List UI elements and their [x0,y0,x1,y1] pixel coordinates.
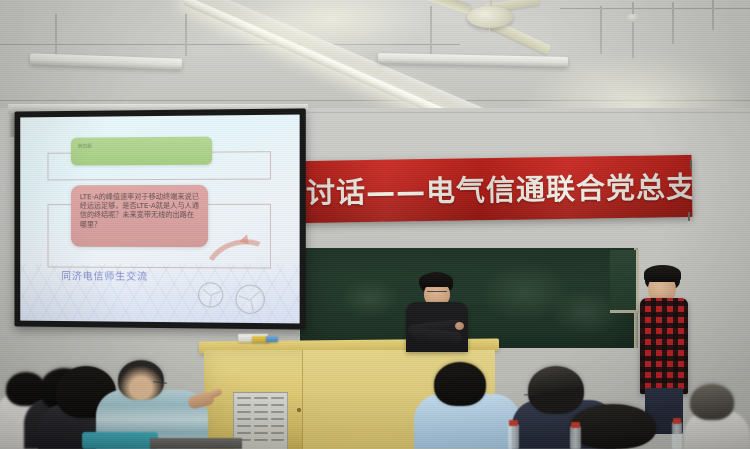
slide-bicycle-wheel [235,285,264,315]
slide-header-box: 第四题 [71,137,212,166]
ceiling-fan [467,6,513,28]
audience-striped-shirt-head [118,360,164,400]
slide-header-label: 第四题 [78,144,92,150]
audience-dark-coat-head [570,404,656,449]
banner-text: 讨话——电气信通联合党总支 [300,164,693,212]
speaker-hand [455,322,464,330]
audience-light-blue-shirt-head [434,362,486,406]
lamp-support-rod [600,6,602,54]
lamp-support-rod [672,2,674,44]
wall-seam [300,112,750,113]
classroom-photo: 讨话——电气信通联合党总支 第四题 LTE-A的峰值速率对于移动终端来说已经远远… [0,0,750,449]
lamp-support-rod [632,2,634,58]
water-bottle-cap [571,422,580,428]
projected-slide: 第四题 LTE-A的峰值速率对于移动终端来说已经远远足够，是否LTE-A就是人与… [20,115,299,324]
water-bottle [672,422,682,449]
water-bottle-cap [673,418,681,424]
ceiling-fan-pull-chain [489,28,490,40]
lamp-support-rod [712,0,714,30]
podium-knob [297,408,301,412]
screen-mount [9,113,14,137]
audience-back-right-head [690,384,734,420]
speaker-hair-front [419,273,453,287]
ceiling-seam [0,44,460,45]
lamp-support-rod [430,6,432,54]
desk-edge [150,438,242,449]
water-bottle-cap [509,420,518,426]
audience-navy-jacket-head [528,366,584,414]
chair-backrest [82,432,158,449]
object-on-podium [266,336,278,342]
projector-screen: 第四题 LTE-A的峰值速率对于移动终端来说已经远远足够，是否LTE-A就是人与… [14,108,305,329]
chalkboard-side-panel [610,250,639,313]
chalkboard [300,248,636,348]
ceiling-seam [0,100,750,101]
water-bottle [508,424,519,449]
ceiling-seam [560,8,750,9]
slide-bicycle-wheel [198,282,223,307]
speaker-glasses [427,291,447,294]
student-plaid-shirt [640,298,688,394]
red-banner: 讨话——电气信通联合党总支 [300,155,693,223]
smoke-detector-icon [626,14,640,22]
banner-tie [690,160,692,169]
student-hair-front [644,265,681,282]
slide-body-box: LTE-A的峰值速率对于移动终端来说已经远远足够，是否LTE-A就是人与人通信的… [71,185,208,247]
banner-tie [688,212,690,221]
slide-body-text: LTE-A的峰值速率对于移动终端来说已经远远足够，是否LTE-A就是人与人通信的… [80,192,199,229]
water-bottle [570,426,581,449]
lamp-support-rod [55,14,57,56]
lamp-support-rod [185,14,187,56]
slide-footer-title: 同济电信师生交流 [61,268,148,283]
